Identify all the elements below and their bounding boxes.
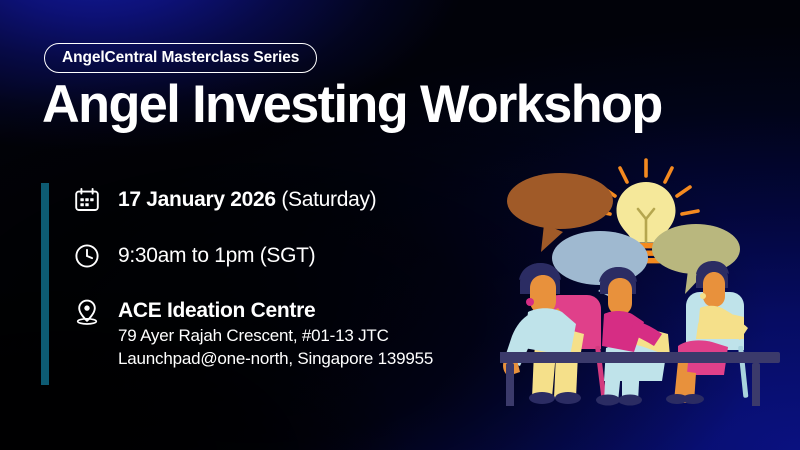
detail-row-date: 17 January 2026 (Saturday) xyxy=(70,183,540,217)
venue-name: ACE Ideation Centre xyxy=(118,298,433,324)
venue-address-line-1: 79 Ayer Rajah Crescent, #01-13 JTC xyxy=(118,324,433,347)
banner-content: AngelCentral Masterclass Series Angel In… xyxy=(0,0,800,450)
detail-text-time: 9:30am to 1pm (SGT) xyxy=(118,239,315,269)
event-details: 17 January 2026 (Saturday) 9:30am to 1pm… xyxy=(70,183,540,370)
person-seated-right xyxy=(666,261,748,404)
clock-icon xyxy=(70,239,104,273)
detail-row-time: 9:30am to 1pm (SGT) xyxy=(70,239,540,273)
date-value: 17 January 2026 xyxy=(118,188,276,211)
series-badge: AngelCentral Masterclass Series xyxy=(44,43,317,73)
location-pin-icon xyxy=(70,295,104,329)
detail-text-venue: ACE Ideation Centre 79 Ayer Rajah Cresce… xyxy=(118,295,433,370)
series-badge-label: AngelCentral Masterclass Series xyxy=(62,49,299,67)
people-meeting-idea-illustration xyxy=(500,156,792,406)
calendar-icon xyxy=(70,183,104,217)
banner-title: Angel Investing Workshop xyxy=(42,74,662,136)
event-banner: AngelCentral Masterclass Series Angel In… xyxy=(0,0,800,450)
detail-text-date: 17 January 2026 (Saturday) xyxy=(118,183,376,213)
accent-bar xyxy=(41,183,49,385)
date-weekday: (Saturday) xyxy=(276,188,377,211)
venue-address-line-2: Launchpad@one-north, Singapore 139955 xyxy=(118,347,433,370)
detail-row-venue: ACE Ideation Centre 79 Ayer Rajah Cresce… xyxy=(70,295,540,370)
time-value: 9:30am to 1pm (SGT) xyxy=(118,242,315,269)
person-standing-left xyxy=(503,263,584,404)
